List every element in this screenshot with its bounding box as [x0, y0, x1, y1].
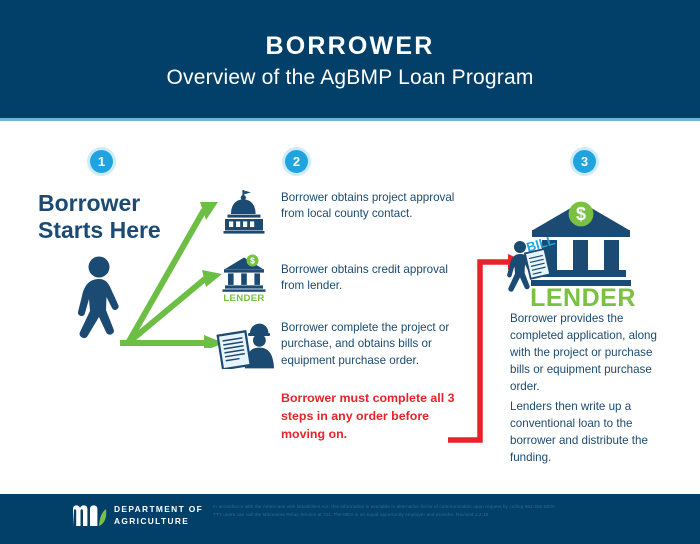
mda-logo-text: DEPARTMENT OF AGRICULTURE [114, 504, 203, 527]
step3-paragraph-2: Lenders then write up a conventional loa… [510, 399, 670, 467]
lender-bank-illustration: $ LENDER BILL [503, 196, 643, 308]
capitol-building-icon [220, 190, 268, 234]
step2-warning-text: Borrower must complete all 3 steps in an… [281, 390, 456, 444]
lender-label: LENDER [530, 284, 636, 308]
logo-line-1: DEPARTMENT OF [114, 504, 203, 516]
bank-lender-small-icon: $ LENDER [216, 252, 272, 302]
logo-line-2: AGRICULTURE [114, 516, 203, 528]
step3-paragraph-1: Borrower provides the completed applicat… [510, 311, 670, 396]
mda-logo: DEPARTMENT OF AGRICULTURE [73, 504, 203, 527]
step2-text-3: Borrower complete the project or purchas… [281, 320, 466, 369]
lender-small-label: LENDER [223, 293, 264, 302]
infographic-page: BORROWER Overview of the AgBMP Loan Prog… [0, 0, 700, 544]
header-banner: BORROWER Overview of the AgBMP Loan Prog… [0, 0, 700, 118]
step-badge-2: 2 [285, 150, 308, 173]
footer-fineprint: In accordance with the Americans with Di… [213, 503, 683, 519]
page-title: BORROWER [0, 32, 700, 61]
footer-bar: DEPARTMENT OF AGRICULTURE In accordance … [0, 494, 700, 544]
dollar-symbol: $ [576, 204, 586, 224]
svg-text:$: $ [250, 256, 255, 266]
step-badge-3: 3 [573, 150, 596, 173]
header-divider [0, 118, 700, 121]
mn-logo-icon [73, 505, 107, 526]
step2-text-1: Borrower obtains project approval from l… [281, 190, 457, 223]
fineprint-line-2: TTY users can call the Minnesota Relay S… [213, 511, 683, 519]
worker-with-document-icon [214, 323, 274, 369]
step2-text-2: Borrower obtains credit approval from le… [281, 262, 457, 295]
fineprint-line-1: In accordance with the Americans with Di… [213, 503, 683, 511]
step-badge-1: 1 [90, 150, 113, 173]
page-subtitle: Overview of the AgBMP Loan Program [0, 66, 700, 90]
